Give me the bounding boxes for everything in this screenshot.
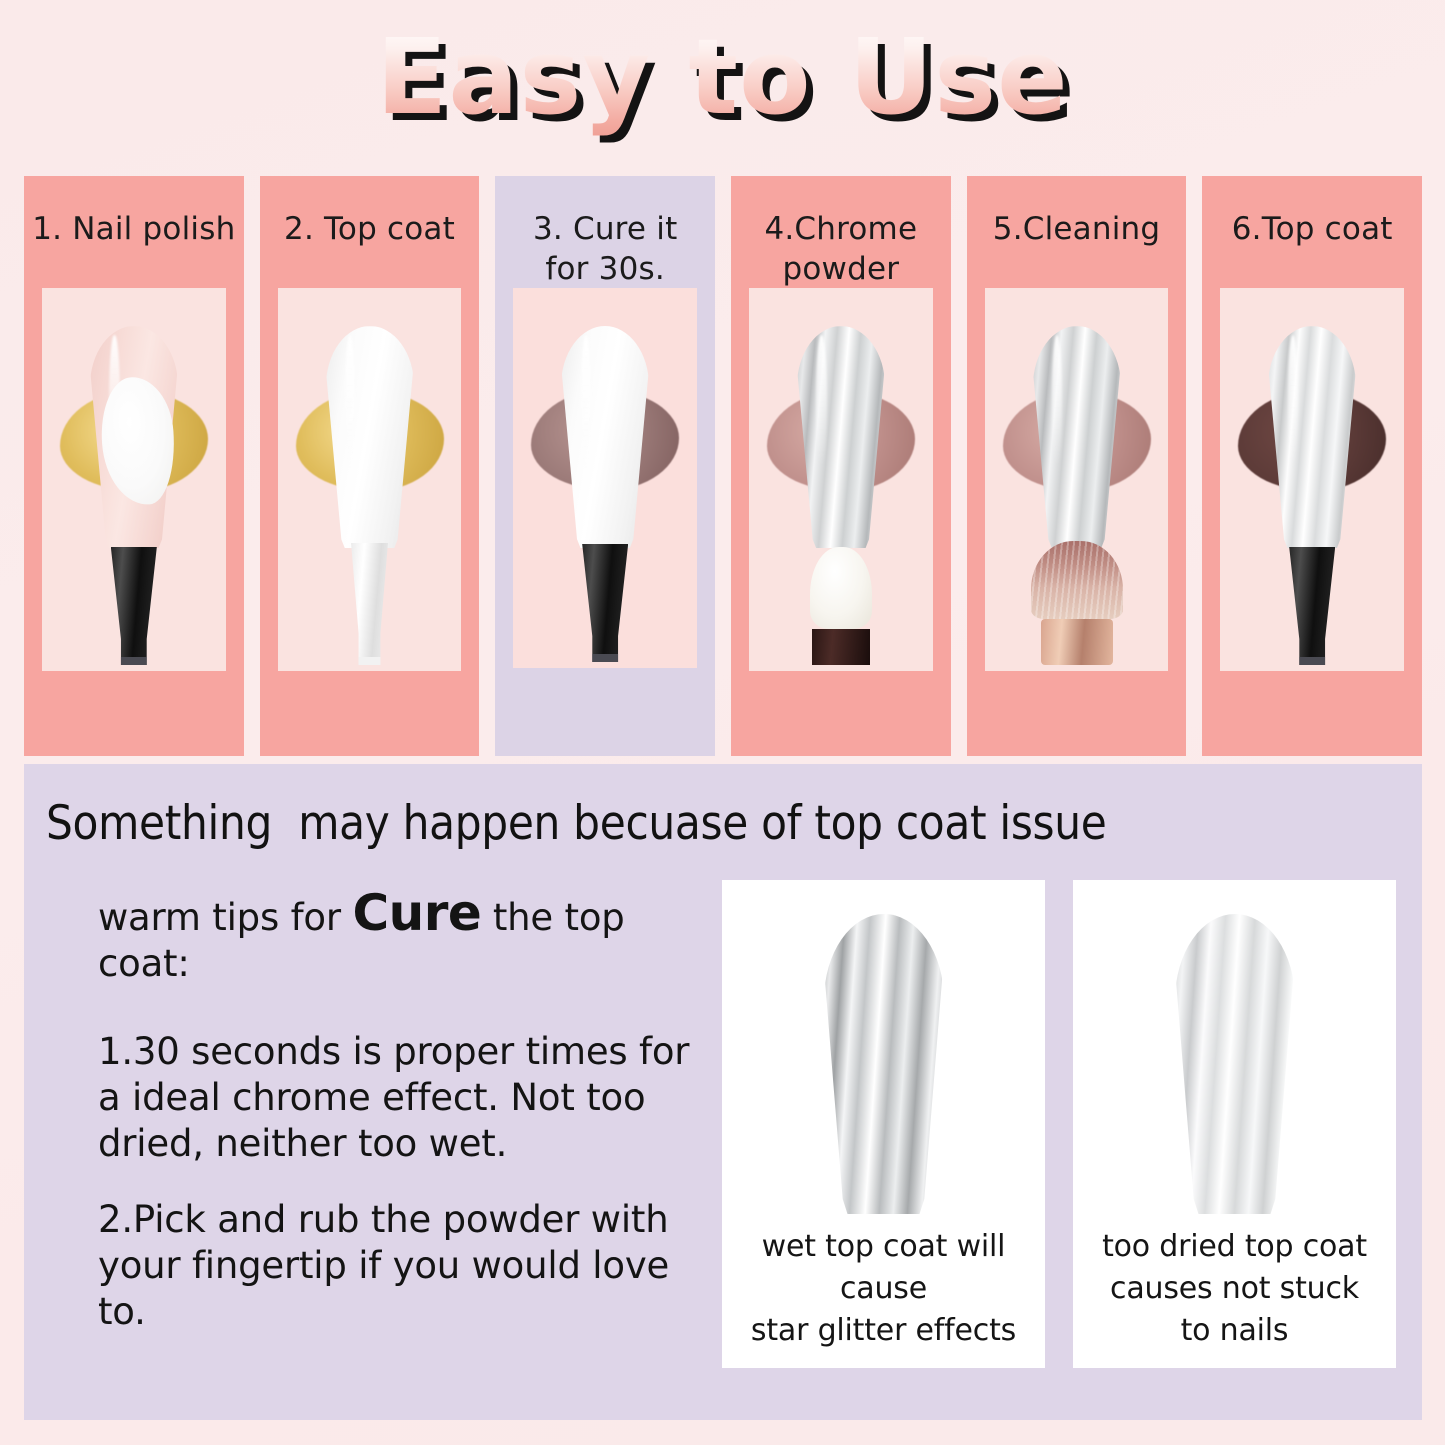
step-photo-2 [278, 288, 462, 671]
step-label-5: 5.Cleaning [987, 176, 1167, 249]
example-card-wet-top-coat[interactable]: wet top coat will cause star glitter eff… [722, 880, 1045, 1368]
black-brush-icon [111, 547, 157, 665]
page-header: Easy to Use [0, 18, 1445, 148]
step-photo-3 [513, 288, 697, 668]
step-card-1[interactable]: 1. Nail polish [24, 176, 244, 756]
sponge-tip-icon [810, 547, 872, 629]
pearl-white-nail [1175, 914, 1295, 1214]
nail-gloss-icon [1052, 335, 1063, 468]
warm-tips-lead: warm tips for Cure the top coat: [98, 890, 698, 987]
panel-body: warm tips for Cure the top coat: 1.30 se… [24, 852, 1422, 1368]
page-title: Easy to Use [376, 18, 1068, 136]
chrome-nail [797, 326, 885, 548]
sponge-handle-icon [812, 629, 870, 665]
step-card-5[interactable]: 5.Cleaning [967, 176, 1187, 756]
nail-gloss-icon [345, 335, 356, 468]
step-photo-5 [985, 288, 1169, 671]
nail-gloss-icon [816, 335, 827, 468]
black-brush-icon [582, 544, 628, 662]
warm-tips-block: warm tips for Cure the top coat: 1.30 se… [50, 880, 698, 1368]
step-card-3[interactable]: 3. Cure it for 30s. [495, 176, 715, 756]
chrome-nail [1268, 326, 1356, 548]
makeup-brush-icon [1029, 541, 1125, 665]
step-label-6: 6.Top coat [1226, 176, 1399, 249]
step-photo-6 [1220, 288, 1404, 671]
panel-heading: Something may happen becuase of top coat… [24, 764, 1422, 852]
step-card-4[interactable]: 4.Chrome powder [731, 176, 951, 756]
brush-ferrule-icon [1041, 619, 1113, 665]
black-brush-icon [1289, 547, 1335, 665]
cure-emphasis: Cure [352, 884, 481, 942]
step-photo-1 [42, 288, 226, 671]
warm-tip-item-2: 2.Pick and rub the powder with your fing… [98, 1197, 698, 1335]
examples-block: wet top coat will cause star glitter eff… [722, 880, 1396, 1368]
step-label-3: 3. Cure it for 30s. [527, 176, 683, 289]
white-brush-icon [349, 543, 391, 665]
brush-bristles-icon [1031, 541, 1123, 619]
nail-gloss-icon [581, 335, 592, 468]
warm-tips-lead-before: warm tips for [98, 896, 352, 939]
sponge-applicator-icon [809, 547, 873, 665]
example-caption-1: wet top coat will cause star glitter eff… [732, 1226, 1035, 1352]
nail-gloss-icon [1288, 335, 1299, 468]
top-coat-issue-panel: Something may happen becuase of top coat… [24, 764, 1422, 1420]
step-label-1: 1. Nail polish [26, 176, 241, 249]
step-card-2[interactable]: 2. Top coat [260, 176, 480, 756]
chrome-nail [1033, 326, 1121, 548]
example-card-dried-top-coat[interactable]: too dried top coat causes not stuck to n… [1073, 880, 1396, 1368]
step-card-6[interactable]: 6.Top coat [1202, 176, 1422, 756]
silver-chrome-nail [824, 914, 944, 1214]
white-nail [326, 326, 414, 548]
example-caption-2: too dried top coat causes not stuck to n… [1102, 1226, 1367, 1352]
step-photo-4 [749, 288, 933, 671]
white-nail [561, 326, 649, 548]
step-label-4: 4.Chrome powder [758, 176, 923, 289]
step-label-2: 2. Top coat [278, 176, 461, 249]
steps-strip: 1. Nail polish 2. Top coat 3. Cure it fo… [24, 176, 1422, 756]
warm-tip-item-1: 1.30 seconds is proper times for a ideal… [98, 1029, 698, 1167]
